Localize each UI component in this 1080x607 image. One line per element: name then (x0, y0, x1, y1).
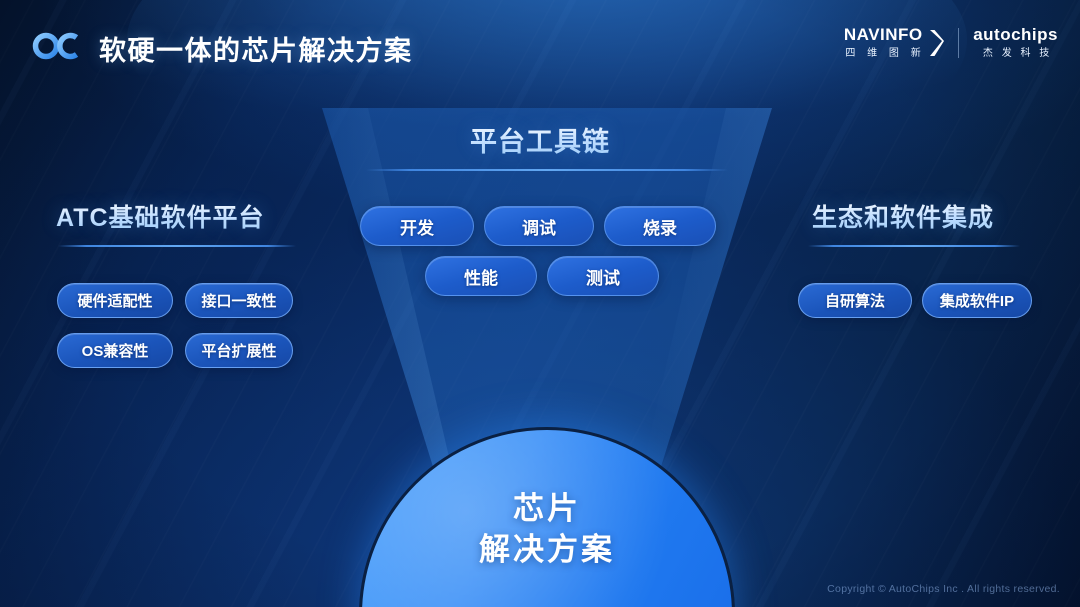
core-title-line2: 解决方案 (479, 529, 615, 570)
pill-center-4[interactable]: 测试 (547, 256, 659, 296)
slide-canvas: 软硬一体的芯片解决方案 NAVINFO 四 维 图 新 autochips 杰 … (0, 0, 1080, 607)
pill-left-2[interactable]: OS兼容性 (57, 333, 173, 368)
pill-center-1[interactable]: 调试 (484, 206, 594, 246)
pill-left-3[interactable]: 平台扩展性 (185, 333, 293, 368)
brand-logos: NAVINFO 四 维 图 新 autochips 杰 发 科 技 (841, 26, 1058, 61)
center-column-rule (366, 169, 728, 171)
right-column-title: 生态和软件集成 (812, 198, 994, 234)
left-column-rule (58, 245, 296, 247)
navinfo-name: NAVINFO (844, 26, 923, 44)
autochips-subname: 杰 发 科 技 (979, 46, 1052, 61)
left-column-title: ATC基础软件平台 (56, 198, 265, 234)
navinfo-logo: NAVINFO 四 维 图 新 (841, 26, 944, 61)
pill-center-3[interactable]: 性能 (425, 256, 537, 296)
brand-divider (958, 28, 959, 58)
page-title: 软硬一体的芯片解决方案 (99, 29, 413, 68)
pill-left-1[interactable]: 接口一致性 (185, 283, 293, 318)
autochips-name: autochips (973, 26, 1058, 44)
core-title-line1: 芯片 (513, 488, 581, 529)
pill-right-0[interactable]: 自研算法 (798, 283, 912, 318)
navinfo-chevron-icon (928, 28, 944, 58)
center-column-title: 平台工具链 (0, 120, 1080, 159)
navinfo-subname: 四 维 图 新 (841, 46, 925, 61)
autochips-logo: autochips 杰 发 科 技 (973, 26, 1058, 61)
oc-logo-icon (31, 31, 81, 61)
pill-right-1[interactable]: 集成软件IP (922, 283, 1032, 318)
slide-header: 软硬一体的芯片解决方案 NAVINFO 四 维 图 新 autochips 杰 … (0, 0, 1080, 92)
copyright-text: Copyright © AutoChips Inc . All rights r… (827, 583, 1060, 595)
right-column-rule (808, 245, 1020, 247)
pill-center-0[interactable]: 开发 (360, 206, 474, 246)
pill-center-2[interactable]: 烧录 (604, 206, 716, 246)
pill-left-0[interactable]: 硬件适配性 (57, 283, 173, 318)
